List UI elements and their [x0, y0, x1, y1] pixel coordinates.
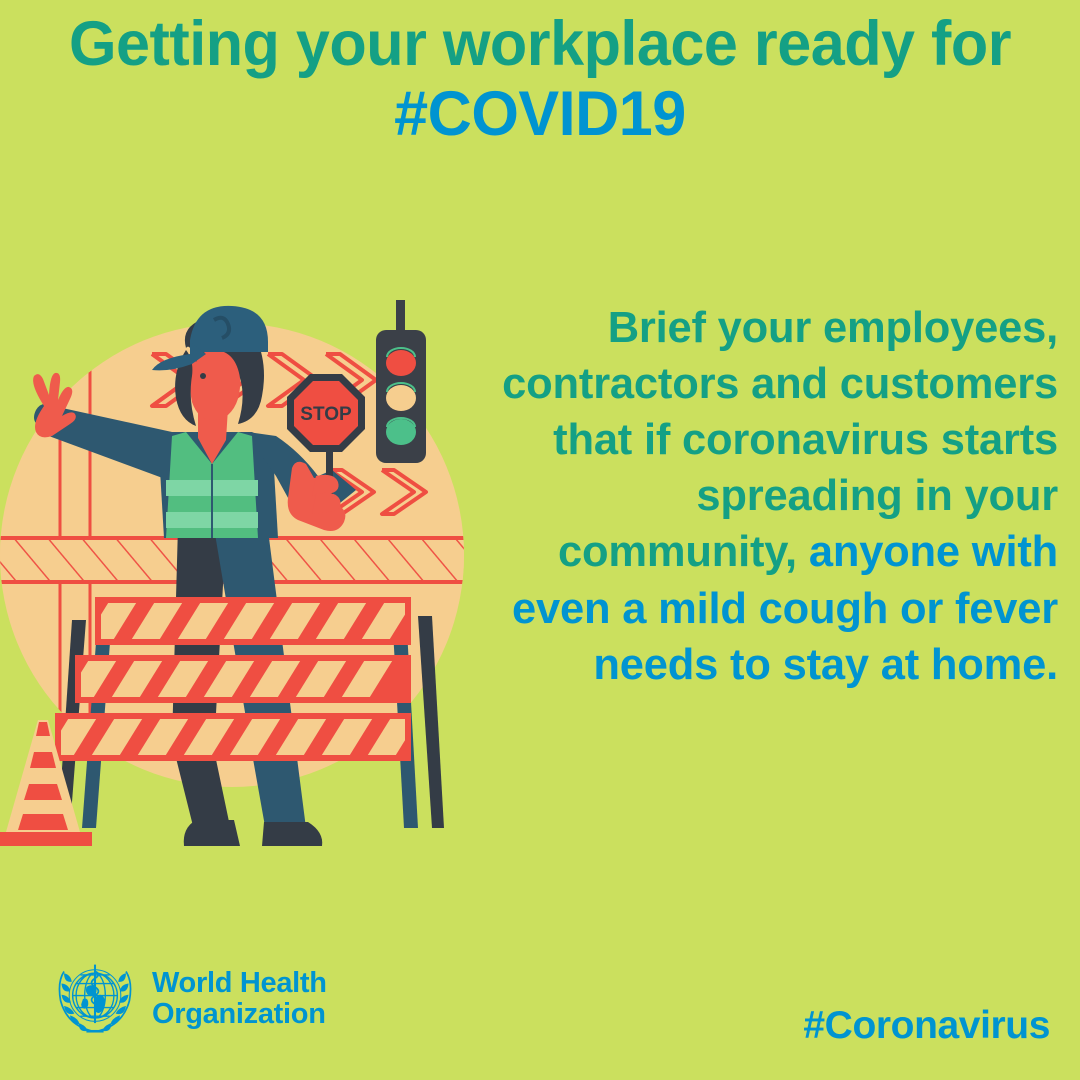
- headline-line-1: Getting your workplace ready for: [16, 14, 1064, 76]
- traffic-light-amber-lamp: [386, 385, 416, 411]
- who-wordmark-line-2: Organization: [152, 999, 327, 1030]
- who-logo: World Health Organization: [52, 956, 327, 1042]
- road-barricade: [44, 600, 444, 828]
- body-copy: Brief your employees, contractors and cu…: [498, 300, 1058, 693]
- traffic-light-red-lamp: [386, 350, 416, 376]
- traffic-light: [376, 300, 426, 463]
- traffic-light-green-lamp: [386, 419, 416, 445]
- who-emblem-icon: [52, 956, 138, 1042]
- headline-line-2: #COVID19: [16, 84, 1064, 146]
- barricade-board-2: [64, 658, 408, 700]
- who-wordmark-line-1: World Health: [152, 968, 327, 999]
- worker-back-shoe: [184, 820, 240, 846]
- hashtag-coronavirus: #Coronavirus: [803, 1004, 1050, 1048]
- who-wordmark: World Health Organization: [152, 968, 327, 1031]
- illustration-road-worker: STOP: [0, 280, 520, 850]
- stop-sign-label: STOP: [300, 404, 352, 425]
- worker-front-shoe: [262, 822, 322, 846]
- barricade-board-3: [44, 716, 420, 758]
- page-title: Getting your workplace ready for #COVID1…: [0, 14, 1080, 145]
- barricade-board-1: [84, 600, 414, 642]
- worker-eye: [200, 373, 206, 379]
- illustration-svg: STOP: [0, 280, 520, 850]
- poster-canvas: Getting your workplace ready for #COVID1…: [0, 0, 1080, 1080]
